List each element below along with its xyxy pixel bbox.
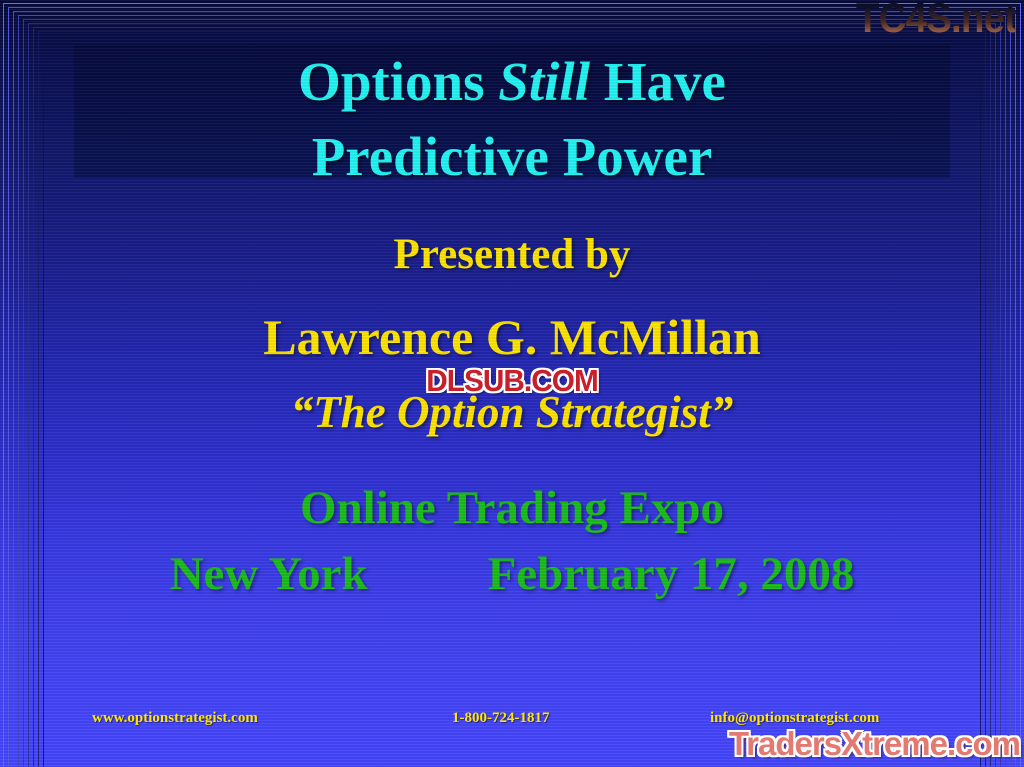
presentation-slide: Options Still Have Predictive Power Pres… [0, 0, 1024, 767]
watermark-tc4s: TC4S.net [856, 0, 1016, 42]
presented-by-label: Presented by [0, 233, 1024, 276]
title-word-options: Options [298, 51, 498, 112]
watermark-tradersxtreme: TradersXtreme.com [729, 725, 1020, 763]
title-word-still-emphasis: Still [498, 51, 590, 112]
title-word-have: Have [590, 51, 726, 112]
presenter-name: Lawrence G. McMillan [0, 312, 1024, 362]
event-city: New York [170, 551, 368, 598]
footer-website[interactable]: www.optionstrategist.com [92, 710, 258, 727]
slide-title-line-1: Options Still Have [0, 54, 1024, 109]
footer-phone[interactable]: 1-800-724-1817 [452, 710, 550, 727]
event-location-date-row: New York February 17, 2008 [0, 551, 1024, 598]
slide-title-line-2: Predictive Power [0, 129, 1024, 184]
event-name: Online Trading Expo [0, 485, 1024, 532]
event-date: February 17, 2008 [488, 551, 855, 598]
watermark-dlsub: DLSUB.COM [426, 363, 598, 399]
